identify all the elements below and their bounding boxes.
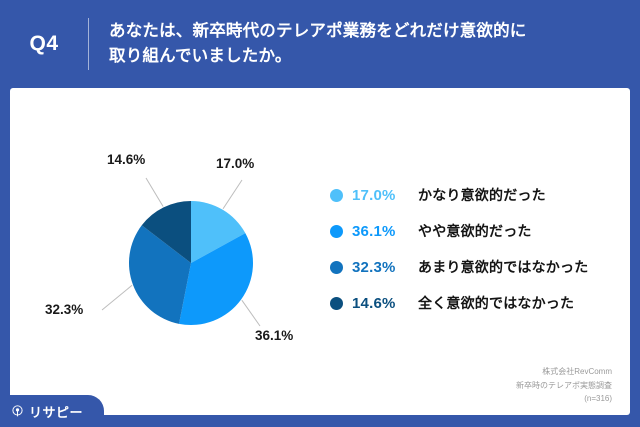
legend-label: あまり意欲的ではなかった bbox=[418, 257, 588, 277]
legend-color-swatch-icon bbox=[330, 225, 343, 238]
legend-label: かなり意欲的だった bbox=[418, 185, 546, 205]
pie-value-label-3: 14.6% bbox=[107, 152, 145, 167]
brand-logo[interactable]: リサピー bbox=[0, 395, 104, 427]
legend-percentage: 14.6% bbox=[352, 295, 418, 312]
page-title-line-1: あなたは、新卒時代のテレアポ業務をどれだけ意欲的に bbox=[109, 19, 527, 44]
credit-survey-name: 新卒時のテレアポ実態調査 bbox=[516, 379, 612, 392]
pie-value-label-2: 32.3% bbox=[45, 302, 83, 317]
pie-value-label-0: 17.0% bbox=[216, 156, 254, 171]
credit-company: 株式会社RevComm bbox=[516, 365, 612, 378]
question-number: Q4 bbox=[0, 32, 88, 56]
pie-chart-svg bbox=[10, 88, 330, 388]
page-title-line-2: 取り組んでいましたか。 bbox=[109, 44, 527, 69]
pie-leader-line bbox=[223, 180, 242, 209]
legend-item[interactable]: 17.0% かなり意欲的だった bbox=[330, 180, 630, 210]
legend-percentage: 36.1% bbox=[352, 223, 418, 240]
pie-leader-line bbox=[242, 300, 260, 326]
legend-label: やや意欲的だった bbox=[418, 221, 532, 241]
pie-chart: 17.0% 36.1% 32.3% 14.6% bbox=[10, 88, 330, 388]
legend-color-swatch-icon bbox=[330, 189, 343, 202]
pie-value-label-1: 36.1% bbox=[255, 328, 293, 343]
credit-sample-size: (n=316) bbox=[516, 392, 612, 405]
chart-legend: 17.0% かなり意欲的だった 36.1% やや意欲的だった 32.3% あまり… bbox=[330, 180, 630, 324]
legend-color-swatch-icon bbox=[330, 261, 343, 274]
legend-percentage: 17.0% bbox=[352, 187, 418, 204]
legend-item[interactable]: 14.6% 全く意欲的ではなかった bbox=[330, 288, 630, 318]
source-credit: 株式会社RevComm 新卒時のテレアポ実態調査 (n=316) bbox=[516, 365, 612, 405]
legend-color-swatch-icon bbox=[330, 297, 343, 310]
legend-item[interactable]: 36.1% やや意欲的だった bbox=[330, 216, 630, 246]
brand-logo-text: リサピー bbox=[29, 402, 83, 421]
location-pin-icon bbox=[11, 405, 24, 418]
chart-card: 17.0% 36.1% 32.3% 14.6% 17.0% かなり意欲的だった … bbox=[10, 88, 630, 415]
legend-percentage: 32.3% bbox=[352, 259, 418, 276]
pie-leader-line bbox=[102, 285, 132, 310]
question-header: Q4 あなたは、新卒時代のテレアポ業務をどれだけ意欲的に 取り組んでいましたか。 bbox=[0, 0, 640, 88]
pie-leader-line bbox=[146, 178, 163, 207]
legend-label: 全く意欲的ではなかった bbox=[418, 293, 574, 313]
pie-slice-group bbox=[129, 201, 253, 325]
legend-item[interactable]: 32.3% あまり意欲的ではなかった bbox=[330, 252, 630, 282]
page-title: あなたは、新卒時代のテレアポ業務をどれだけ意欲的に 取り組んでいましたか。 bbox=[89, 19, 545, 69]
